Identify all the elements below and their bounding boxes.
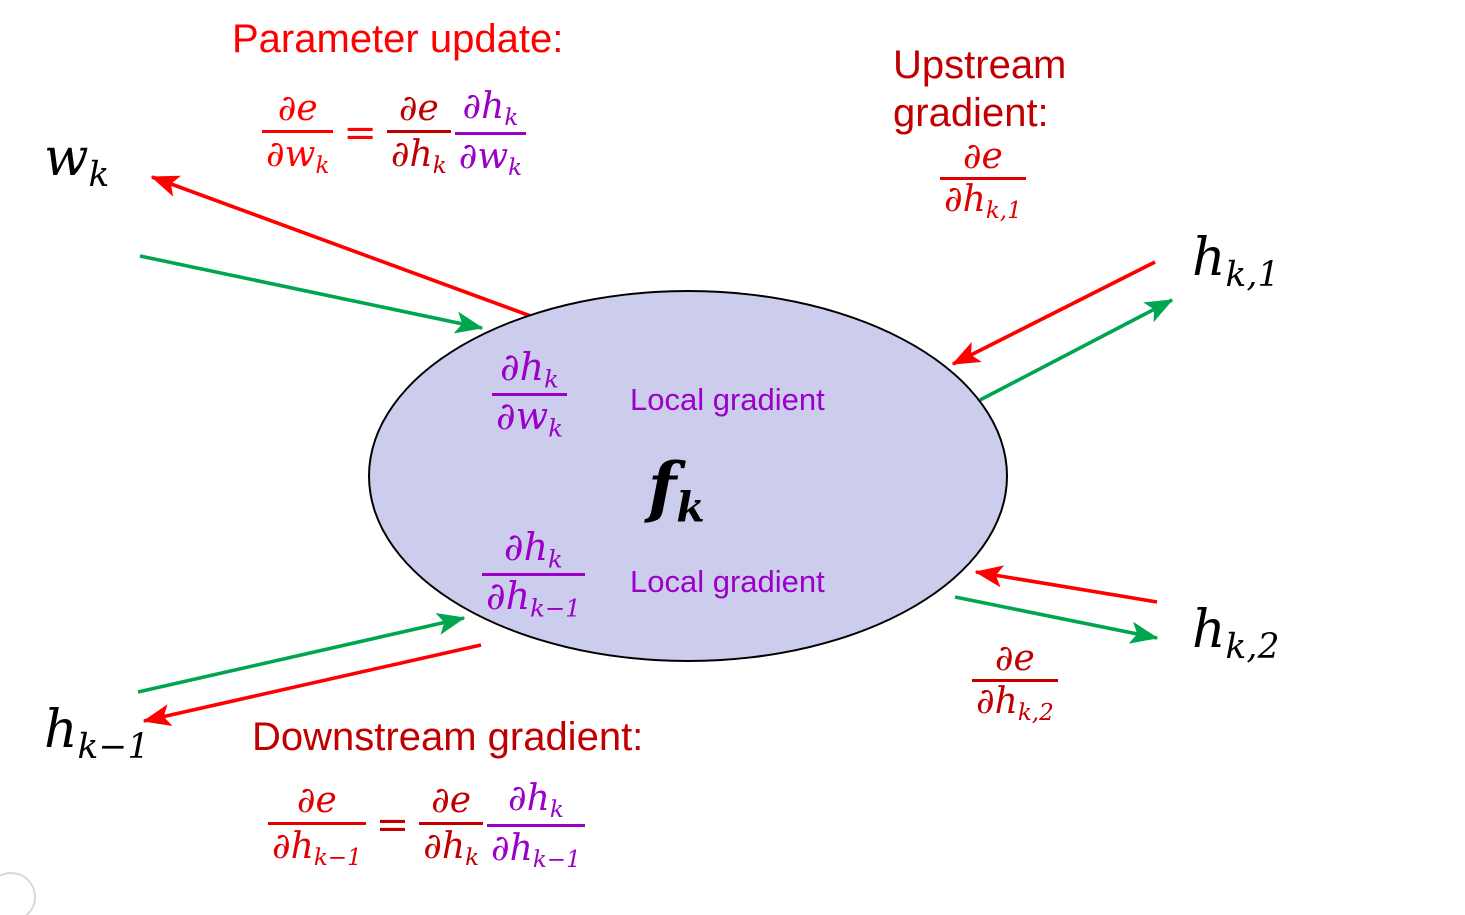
hk1-base: h bbox=[1192, 228, 1226, 288]
dg-rhs1: ∂e ∂hk bbox=[419, 780, 483, 871]
param-update-rhs2: ∂hk ∂wk bbox=[455, 86, 526, 181]
dg-rhs2-den-base: ∂h bbox=[491, 828, 533, 869]
hk1-sub: k,1 bbox=[1226, 255, 1280, 295]
hk2-base: h bbox=[1192, 600, 1226, 660]
hkm1-base: h bbox=[44, 700, 78, 760]
lg-top-den-base: ∂w bbox=[496, 394, 548, 438]
hkm1-sub: k−1 bbox=[78, 727, 150, 767]
dg-equals: = bbox=[366, 802, 420, 848]
dg-rhs1-den-base: ∂h bbox=[423, 826, 465, 867]
lg-top-num-sub: k bbox=[544, 364, 559, 393]
diagram-canvas: ∂hk ∂wk Local gradient fk ∂hk ∂hk−1 Loca… bbox=[0, 0, 1465, 915]
lg-top-num-base: ∂h bbox=[500, 345, 544, 389]
dg-lhs-num: ∂e bbox=[268, 780, 366, 825]
pu-lhs-num: ∂e bbox=[262, 88, 333, 133]
arrow-backward-h-k-1 bbox=[953, 262, 1155, 364]
pu-rhs2-num-base: ∂h bbox=[463, 86, 505, 127]
o2-den-sub: k,2 bbox=[1018, 700, 1054, 726]
ug-num: ∂e bbox=[940, 138, 1026, 180]
arrow-forward-h-k-2 bbox=[955, 597, 1157, 638]
local-gradient-top-label: Local gradient bbox=[630, 384, 825, 417]
pu-lhs-den-base: ∂w bbox=[266, 134, 315, 175]
arrow-forward-w-k bbox=[140, 256, 482, 328]
param-update-lhs: ∂e ∂wk bbox=[262, 88, 333, 179]
dg-rhs2-num-base: ∂h bbox=[508, 778, 550, 819]
arrow-backward-h-k-minus-1 bbox=[144, 645, 481, 721]
node-function-label: fk bbox=[648, 448, 705, 531]
pu-rhs2-den-sub: k bbox=[508, 155, 522, 181]
arrow-backward-w-k bbox=[152, 177, 536, 318]
ug-den-base: ∂h bbox=[944, 179, 986, 220]
fk-sub: k bbox=[676, 483, 704, 531]
local-gradient-bottom-fraction: ∂hk ∂hk−1 bbox=[482, 528, 585, 621]
pu-rhs2-num-sub: k bbox=[504, 105, 518, 131]
lg-top-den-sub: k bbox=[548, 413, 563, 442]
dg-lhs: ∂e ∂hk−1 bbox=[268, 780, 366, 871]
o2-num: ∂e bbox=[972, 640, 1058, 682]
dg-rhs2: ∂hk ∂hk−1 bbox=[487, 778, 585, 873]
variable-h-k-1: hk,1 bbox=[1192, 228, 1280, 295]
variable-h-k-minus-1: hk−1 bbox=[44, 700, 149, 767]
parameter-update-equation: ∂e ∂wk = ∂e ∂hk ∂hk ∂wk bbox=[262, 86, 526, 181]
parameter-update-heading: Parameter update: bbox=[232, 18, 563, 60]
downstream-gradient-equation: ∂e ∂hk−1 = ∂e ∂hk ∂hk ∂hk−1 bbox=[268, 778, 585, 873]
param-update-equals: = bbox=[333, 110, 387, 156]
dg-rhs2-num-sub: k bbox=[550, 797, 564, 823]
w-k-sub: k bbox=[89, 155, 110, 195]
pu-lhs-den-sub: k bbox=[315, 153, 329, 179]
dg-rhs1-num: ∂e bbox=[419, 780, 483, 825]
local-gradient-bottom-label: Local gradient bbox=[630, 566, 825, 599]
output2-gradient-fraction: ∂e ∂hk,2 bbox=[972, 640, 1058, 725]
dg-rhs2-den-sub: k−1 bbox=[533, 847, 581, 873]
hk2-sub: k,2 bbox=[1226, 627, 1280, 667]
variable-w-k: wk bbox=[44, 128, 110, 195]
pu-rhs1-den-base: ∂h bbox=[391, 134, 433, 175]
arrow-backward-h-k-2 bbox=[976, 572, 1157, 602]
downstream-gradient-heading: Downstream gradient: bbox=[252, 716, 643, 758]
local-gradient-top-fraction: ∂hk ∂wk bbox=[492, 348, 567, 441]
dg-rhs1-den-sub: k bbox=[465, 845, 479, 871]
lg-bot-den-sub: k−1 bbox=[530, 593, 581, 622]
pu-rhs1-den-sub: k bbox=[433, 153, 447, 179]
fk-base: f bbox=[648, 448, 676, 526]
dg-lhs-den-base: ∂h bbox=[272, 826, 314, 867]
w-k-base: w bbox=[44, 128, 89, 188]
arrow-forward-h-k-minus-1 bbox=[138, 618, 464, 692]
variable-h-k-2: hk,2 bbox=[1192, 600, 1280, 667]
pu-rhs1-num: ∂e bbox=[387, 88, 451, 133]
arrow-forward-h-k-1 bbox=[980, 300, 1172, 400]
pu-rhs2-den-base: ∂w bbox=[459, 136, 508, 177]
lg-bot-den-base: ∂h bbox=[486, 574, 530, 618]
o2-den-base: ∂h bbox=[976, 681, 1018, 722]
ug-den-sub: k,1 bbox=[986, 198, 1022, 224]
lg-bot-num-base: ∂h bbox=[504, 525, 548, 569]
param-update-rhs1: ∂e ∂hk bbox=[387, 88, 451, 179]
lg-bot-num-sub: k bbox=[548, 544, 563, 573]
upstream-gradient-heading-line2: gradient: bbox=[893, 92, 1049, 134]
dg-lhs-den-sub: k−1 bbox=[314, 845, 362, 871]
upstream-gradient-fraction: ∂e ∂hk,1 bbox=[940, 138, 1026, 223]
upstream-gradient-heading-line1: Upstream bbox=[893, 44, 1066, 86]
